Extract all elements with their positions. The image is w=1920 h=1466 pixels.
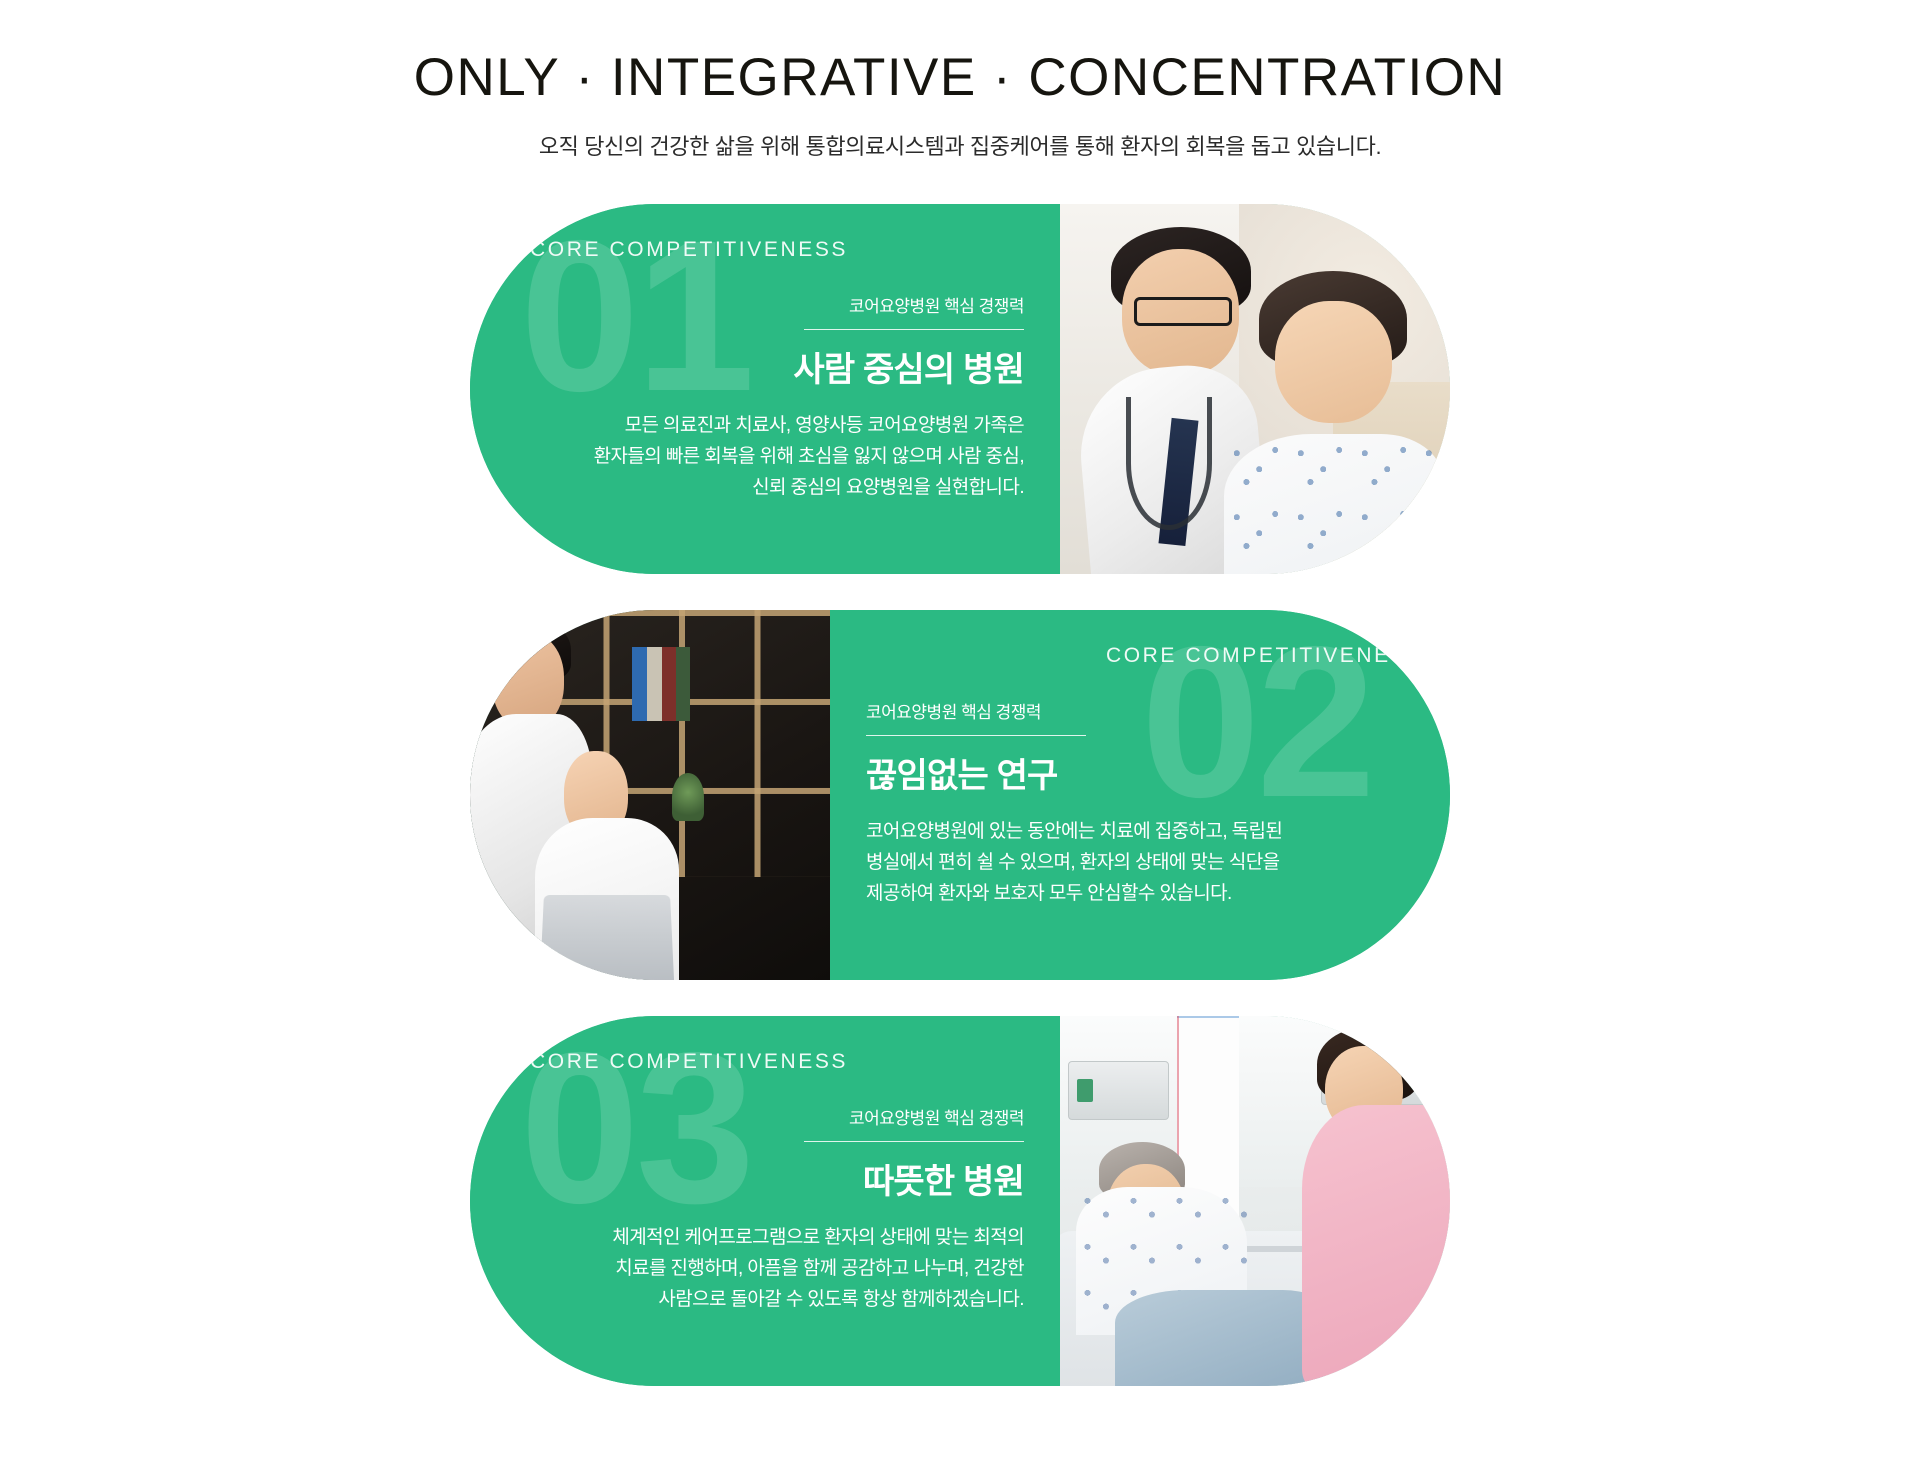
card-text-panel: 01 CORE COMPETITIVENESS 코어요양병원 핵심 경쟁력 사람… xyxy=(470,204,1060,574)
card-kicker-label: 코어요양병원 핵심 경쟁력 xyxy=(804,292,1024,330)
card-photo xyxy=(470,610,830,980)
card-text-panel: 02 CORE COMPETITIVENESS 코어요양병원 핵심 경쟁력 끊임… xyxy=(830,610,1450,980)
card-title: 따뜻한 병원 xyxy=(500,1162,1024,1203)
card-title: 사람 중심의 병원 xyxy=(500,350,1024,391)
card-kicker-label: 코어요양병원 핵심 경쟁력 xyxy=(866,698,1086,736)
two-doctors-at-laptop-photo xyxy=(470,610,830,980)
card-text-panel: 03 CORE COMPETITIVENESS 코어요양병원 핵심 경쟁력 따뜻… xyxy=(470,1016,1060,1386)
doctor-with-elderly-patient-photo xyxy=(1060,204,1450,574)
card-eyebrow-label: CORE COMPETITIVENESS xyxy=(530,1050,848,1074)
card-kicker-wrap: 코어요양병원 핵심 경쟁력 xyxy=(866,698,1420,736)
core-competitiveness-card[interactable]: 01 CORE COMPETITIVENESS 코어요양병원 핵심 경쟁력 사람… xyxy=(470,204,1450,574)
page-root: ONLY · INTEGRATIVE · CONCENTRATION 오직 당신… xyxy=(0,0,1920,1466)
core-competitiveness-card[interactable]: 02 CORE COMPETITIVENESS 코어요양병원 핵심 경쟁력 끊임… xyxy=(470,610,1450,980)
card-body-text: 코어요양병원에 있는 동안에는 치료에 집중하고, 독립된 병실에서 편히 쉴 … xyxy=(866,817,1420,909)
card-copy-block: 코어요양병원 핵심 경쟁력 끊임없는 연구 코어요양병원에 있는 동안에는 치료… xyxy=(830,698,1450,909)
card-body-text: 모든 의료진과 치료사, 영양사등 코어요양병원 가족은 환자들의 빠른 회복을… xyxy=(500,411,1024,503)
card-copy-block: 코어요양병원 핵심 경쟁력 사람 중심의 병원 모든 의료진과 치료사, 영양사… xyxy=(470,292,1060,503)
card-copy-block: 코어요양병원 핵심 경쟁력 따뜻한 병원 체계적인 케어프로그램으로 환자의 상… xyxy=(470,1104,1060,1315)
nurse-caring-for-patient-photo xyxy=(1060,1016,1450,1386)
card-title: 끊임없는 연구 xyxy=(866,756,1420,797)
card-photo xyxy=(1060,1016,1450,1386)
page-header: ONLY · INTEGRATIVE · CONCENTRATION 오직 당신… xyxy=(0,0,1920,161)
page-title: ONLY · INTEGRATIVE · CONCENTRATION xyxy=(0,48,1920,107)
core-competitiveness-card[interactable]: 03 CORE COMPETITIVENESS 코어요양병원 핵심 경쟁력 따뜻… xyxy=(470,1016,1450,1386)
core-competitiveness-card-list: 01 CORE COMPETITIVENESS 코어요양병원 핵심 경쟁력 사람… xyxy=(0,204,1920,1386)
card-kicker-label: 코어요양병원 핵심 경쟁력 xyxy=(804,1104,1024,1142)
card-body-text: 체계적인 케어프로그램으로 환자의 상태에 맞는 최적의 치료를 진행하며, 아… xyxy=(500,1223,1024,1315)
card-kicker-wrap: 코어요양병원 핵심 경쟁력 xyxy=(500,1104,1024,1142)
card-kicker-wrap: 코어요양병원 핵심 경쟁력 xyxy=(500,292,1024,330)
card-eyebrow-label: CORE COMPETITIVENESS xyxy=(1106,644,1424,668)
card-photo xyxy=(1060,204,1450,574)
card-eyebrow-label: CORE COMPETITIVENESS xyxy=(530,238,848,262)
page-subtitle: 오직 당신의 건강한 삶을 위해 통합의료시스템과 집중케어를 통해 환자의 회… xyxy=(0,129,1920,161)
